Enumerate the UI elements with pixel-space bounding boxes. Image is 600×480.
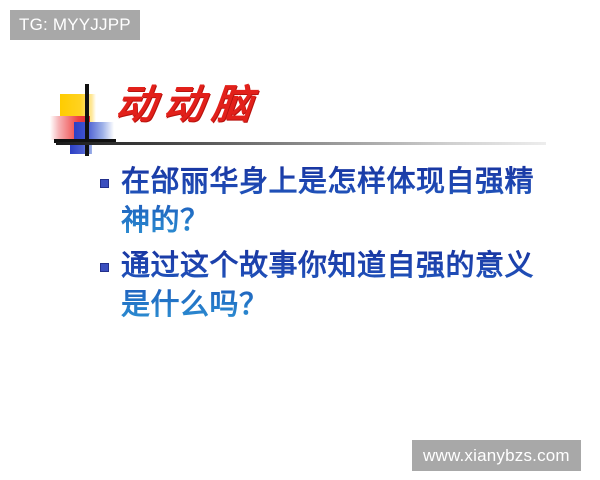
list-item: 在邰丽华身上是怎样体现自强精神的？ [100,162,562,240]
logo-vertical-line-icon [85,84,89,156]
square-bullet-icon [100,179,109,188]
watermark-top: TG: MYYJJPP [10,10,140,40]
bullet-list: 在邰丽华身上是怎样体现自强精神的？ 通过这个故事你知道自强的意义是什么吗？ [100,162,562,330]
title-divider [56,142,546,145]
decorative-logo [48,84,116,156]
watermark-top-label: TG: MYYJJPP [19,15,131,35]
slide-title: 动动脑 [114,82,263,128]
bullet-text: 通过这个故事你知道自强的意义是什么吗？ [121,246,562,324]
list-item: 通过这个故事你知道自强的意义是什么吗？ [100,246,562,324]
watermark-bottom: www.xianybzs.com [412,440,581,471]
presentation-slide: TG: MYYJJPP 动动脑 在邰丽华身上是怎样体现自强精神的？ 通过这个故事… [0,0,600,480]
watermark-bottom-label: www.xianybzs.com [423,446,570,466]
square-bullet-icon [100,263,109,272]
bullet-text: 在邰丽华身上是怎样体现自强精神的？ [121,162,562,240]
